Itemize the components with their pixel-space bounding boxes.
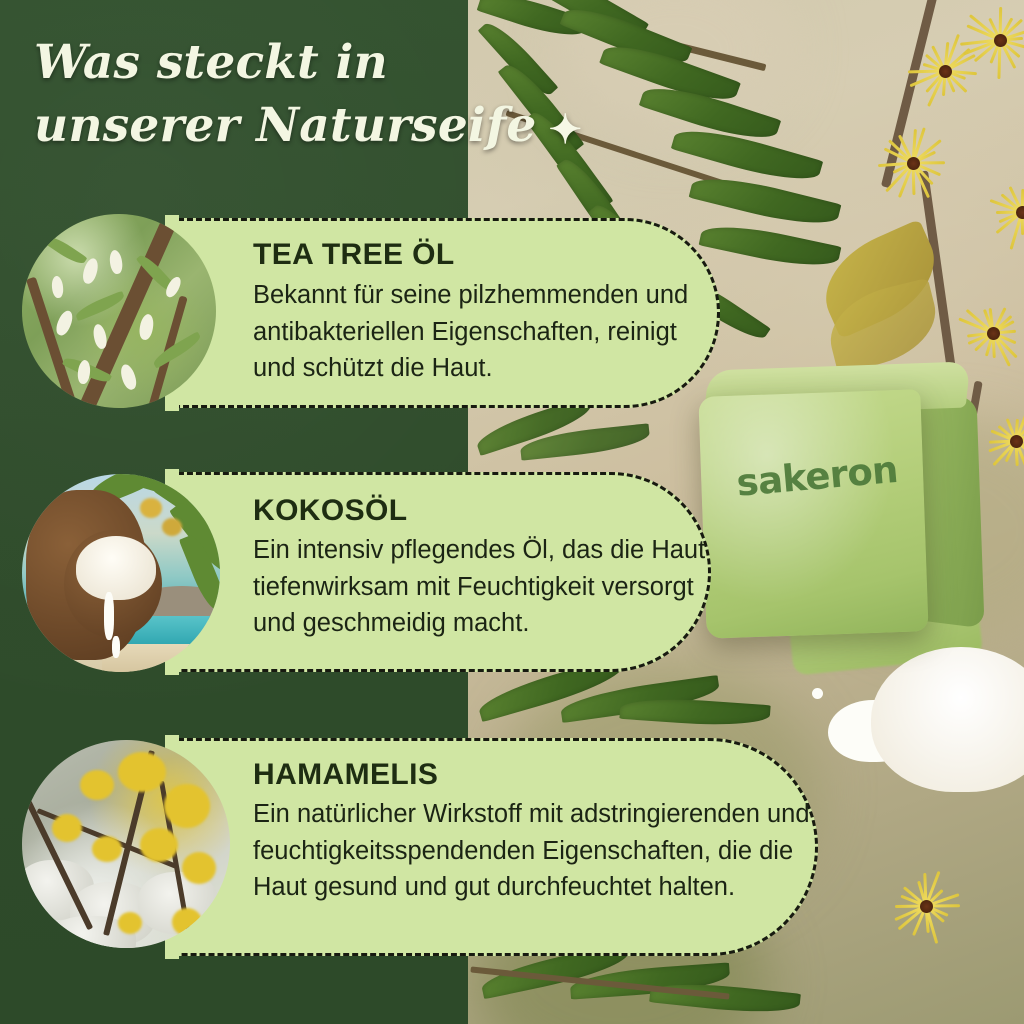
headline-line-1: Was steckt in — [34, 35, 388, 90]
infographic-canvas: sakeron Was steckt in unserer Naturseife… — [0, 0, 1024, 1024]
hamamelis-thumbnail — [22, 740, 230, 948]
sparkle-icon: ✦ — [549, 110, 583, 150]
card-title: KOKOSÖL — [253, 494, 723, 528]
card-title: TEA TREE ÖL — [253, 238, 698, 272]
soap-bar-product: sakeron — [697, 361, 984, 639]
milk-droplet-decor — [836, 742, 845, 751]
card-description: Ein natürlicher Wirkstoff mit adstringie… — [253, 796, 833, 906]
card-description: Ein intensiv pflegendes Öl, das die Haut… — [253, 532, 723, 642]
coconut-half-decor — [846, 630, 1024, 910]
card-description: Bekannt für seine pilzhemmenden und anti… — [253, 277, 698, 387]
headline-line-2: unserer Naturseife — [34, 98, 537, 153]
ingredient-card-tea-tree[interactable]: TEA TREE ÖL Bekannt für seine pilzhemmen… — [168, 218, 720, 408]
tea-tree-thumbnail — [22, 214, 216, 408]
card-title: HAMAMELIS — [253, 758, 833, 792]
ingredient-card-hamamelis[interactable]: HAMAMELIS Ein natürlicher Wirkstoff mit … — [168, 738, 818, 956]
ingredient-card-kokosoel[interactable]: KOKOSÖL Ein intensiv pflegendes Öl, das … — [168, 472, 711, 672]
coconut-thumbnail — [22, 474, 220, 672]
page-title: Was steckt in unserer Naturseife✦ — [34, 32, 654, 157]
milk-droplet-decor — [812, 688, 823, 699]
